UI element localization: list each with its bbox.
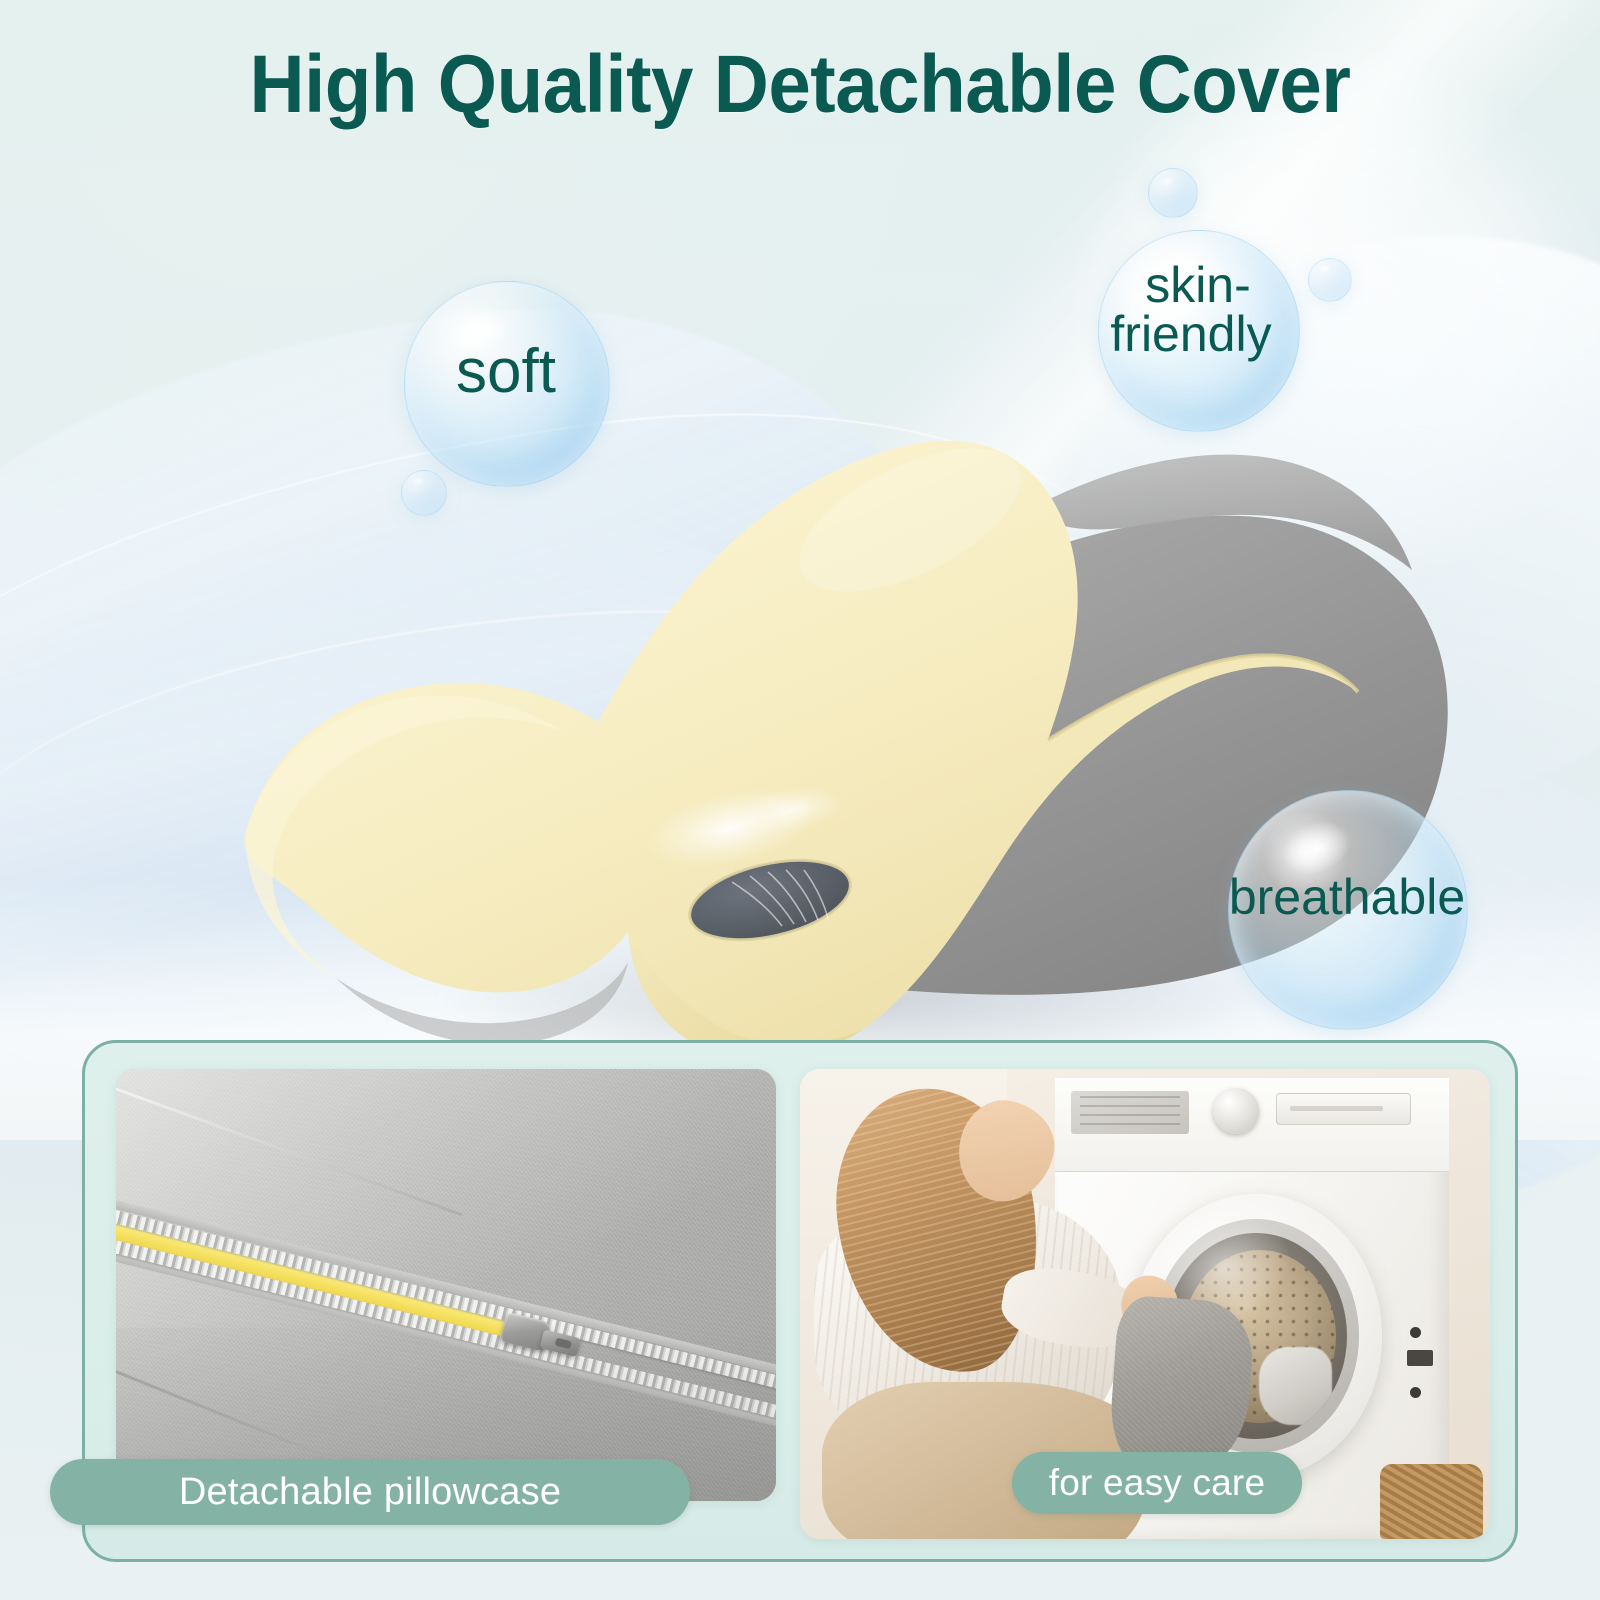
laundry-inside-drum — [1259, 1347, 1332, 1425]
bubble-skin-friendly-small-top — [1148, 168, 1198, 218]
detergent-drawer-handle — [1290, 1106, 1384, 1111]
bubble-soft-small — [401, 470, 447, 516]
bubble-soft-label: soft — [404, 336, 608, 407]
page-title: High Quality Detachable Cover — [56, 42, 1544, 128]
caption-easy-care: for easy care — [1012, 1452, 1302, 1514]
photo-detachable-pillowcase — [116, 1069, 776, 1501]
washing-machine-button-top — [1410, 1327, 1421, 1338]
washing-machine-button-bottom — [1410, 1387, 1421, 1398]
caption-detachable-pillowcase: Detachable pillowcase — [50, 1459, 690, 1525]
washing-machine-indicator — [1407, 1350, 1433, 1366]
bubble-skin-friendly-small-right — [1308, 258, 1352, 302]
detergent-drawer — [1276, 1093, 1412, 1124]
bubble-breathable-label: breathable — [1202, 868, 1492, 926]
product-infographic: High Quality Detachable Cover — [0, 0, 1600, 1600]
laundry-basket — [1380, 1464, 1484, 1539]
bubble-skin-friendly-label-line2: friendly — [1091, 305, 1291, 363]
